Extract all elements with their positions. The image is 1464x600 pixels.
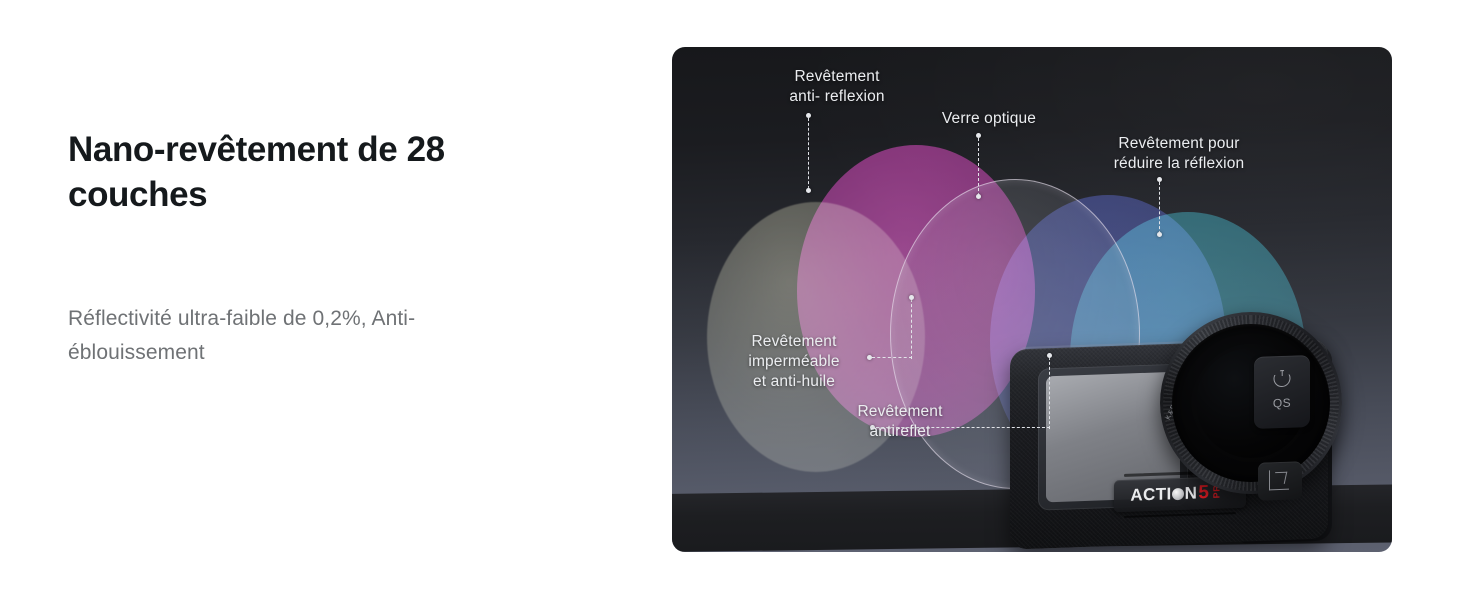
leader-line-anti-reflexion (808, 118, 809, 189)
label-verre-optique: Verre optique (894, 109, 1084, 129)
label-impermeable: Revêtement imperméable et anti-huile (694, 332, 894, 392)
leader-dot-anti-reflexion-bottom (806, 188, 811, 193)
leader-dot-impermeable-target (909, 295, 914, 300)
leader-line-impermeable-vertical (911, 299, 912, 359)
action-camera: ACTI N 5 PRO K&F CONCEPT (1002, 302, 1392, 552)
power-icon (1274, 370, 1291, 388)
label-anti-reflexion: Revêtement anti- reflexion (732, 67, 942, 107)
leader-dot-verre-optique-bottom (976, 194, 981, 199)
leader-line-reduire (1159, 182, 1160, 234)
power-quick-switch-button[interactable]: QS (1254, 355, 1310, 429)
leader-line-antireflet-vertical (1049, 357, 1050, 429)
label-reduire-reflexion: Revêtement pour réduire la réflexion (1054, 134, 1304, 174)
leader-dot-antireflet-target (1047, 353, 1052, 358)
product-image-panel: ACTI N 5 PRO K&F CONCEPT (672, 47, 1392, 552)
leader-dot-reduire-bottom (1157, 232, 1162, 237)
product-feature-banner: Nano-revêtement de 28 couches Réflectivi… (0, 0, 1464, 600)
mode-button[interactable] (1258, 461, 1302, 501)
page-title: Nano-revêtement de 28 couches (68, 128, 488, 218)
quick-switch-label: QS (1273, 396, 1291, 411)
subtitle-text: Réflectivité ultra-faible de 0,2%, Anti-… (68, 302, 538, 370)
screen-swap-icon (1269, 470, 1289, 491)
label-antireflet: Revêtement antireflet (800, 402, 1000, 442)
camera-lens-ring: K&F CONCEPT (1160, 312, 1342, 494)
copy-block: Nano-revêtement de 28 couches (68, 128, 588, 218)
leader-line-verre-optique (978, 138, 979, 196)
